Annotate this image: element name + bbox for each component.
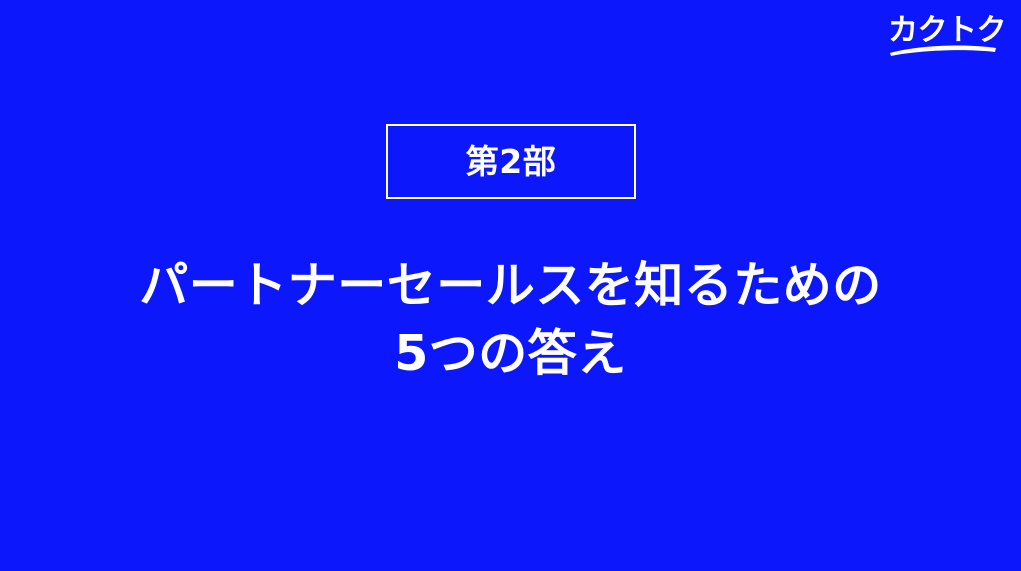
part-badge-label: 第2部 [466,145,556,178]
logo-wordmark-text: カクトク [888,13,1006,48]
part-badge: 第2部 [386,124,636,199]
slide-canvas: カクトク 第2部 パートナーセールスを知るための 5つの答え [0,0,1021,571]
kakutoku-logo: カクトク [888,10,1000,58]
headline-line-1: パートナーセールスを知るための [0,252,1021,320]
headline-line-2: 5つの答え [0,320,1021,388]
slide-headline: パートナーセールスを知るための 5つの答え [0,252,1021,388]
